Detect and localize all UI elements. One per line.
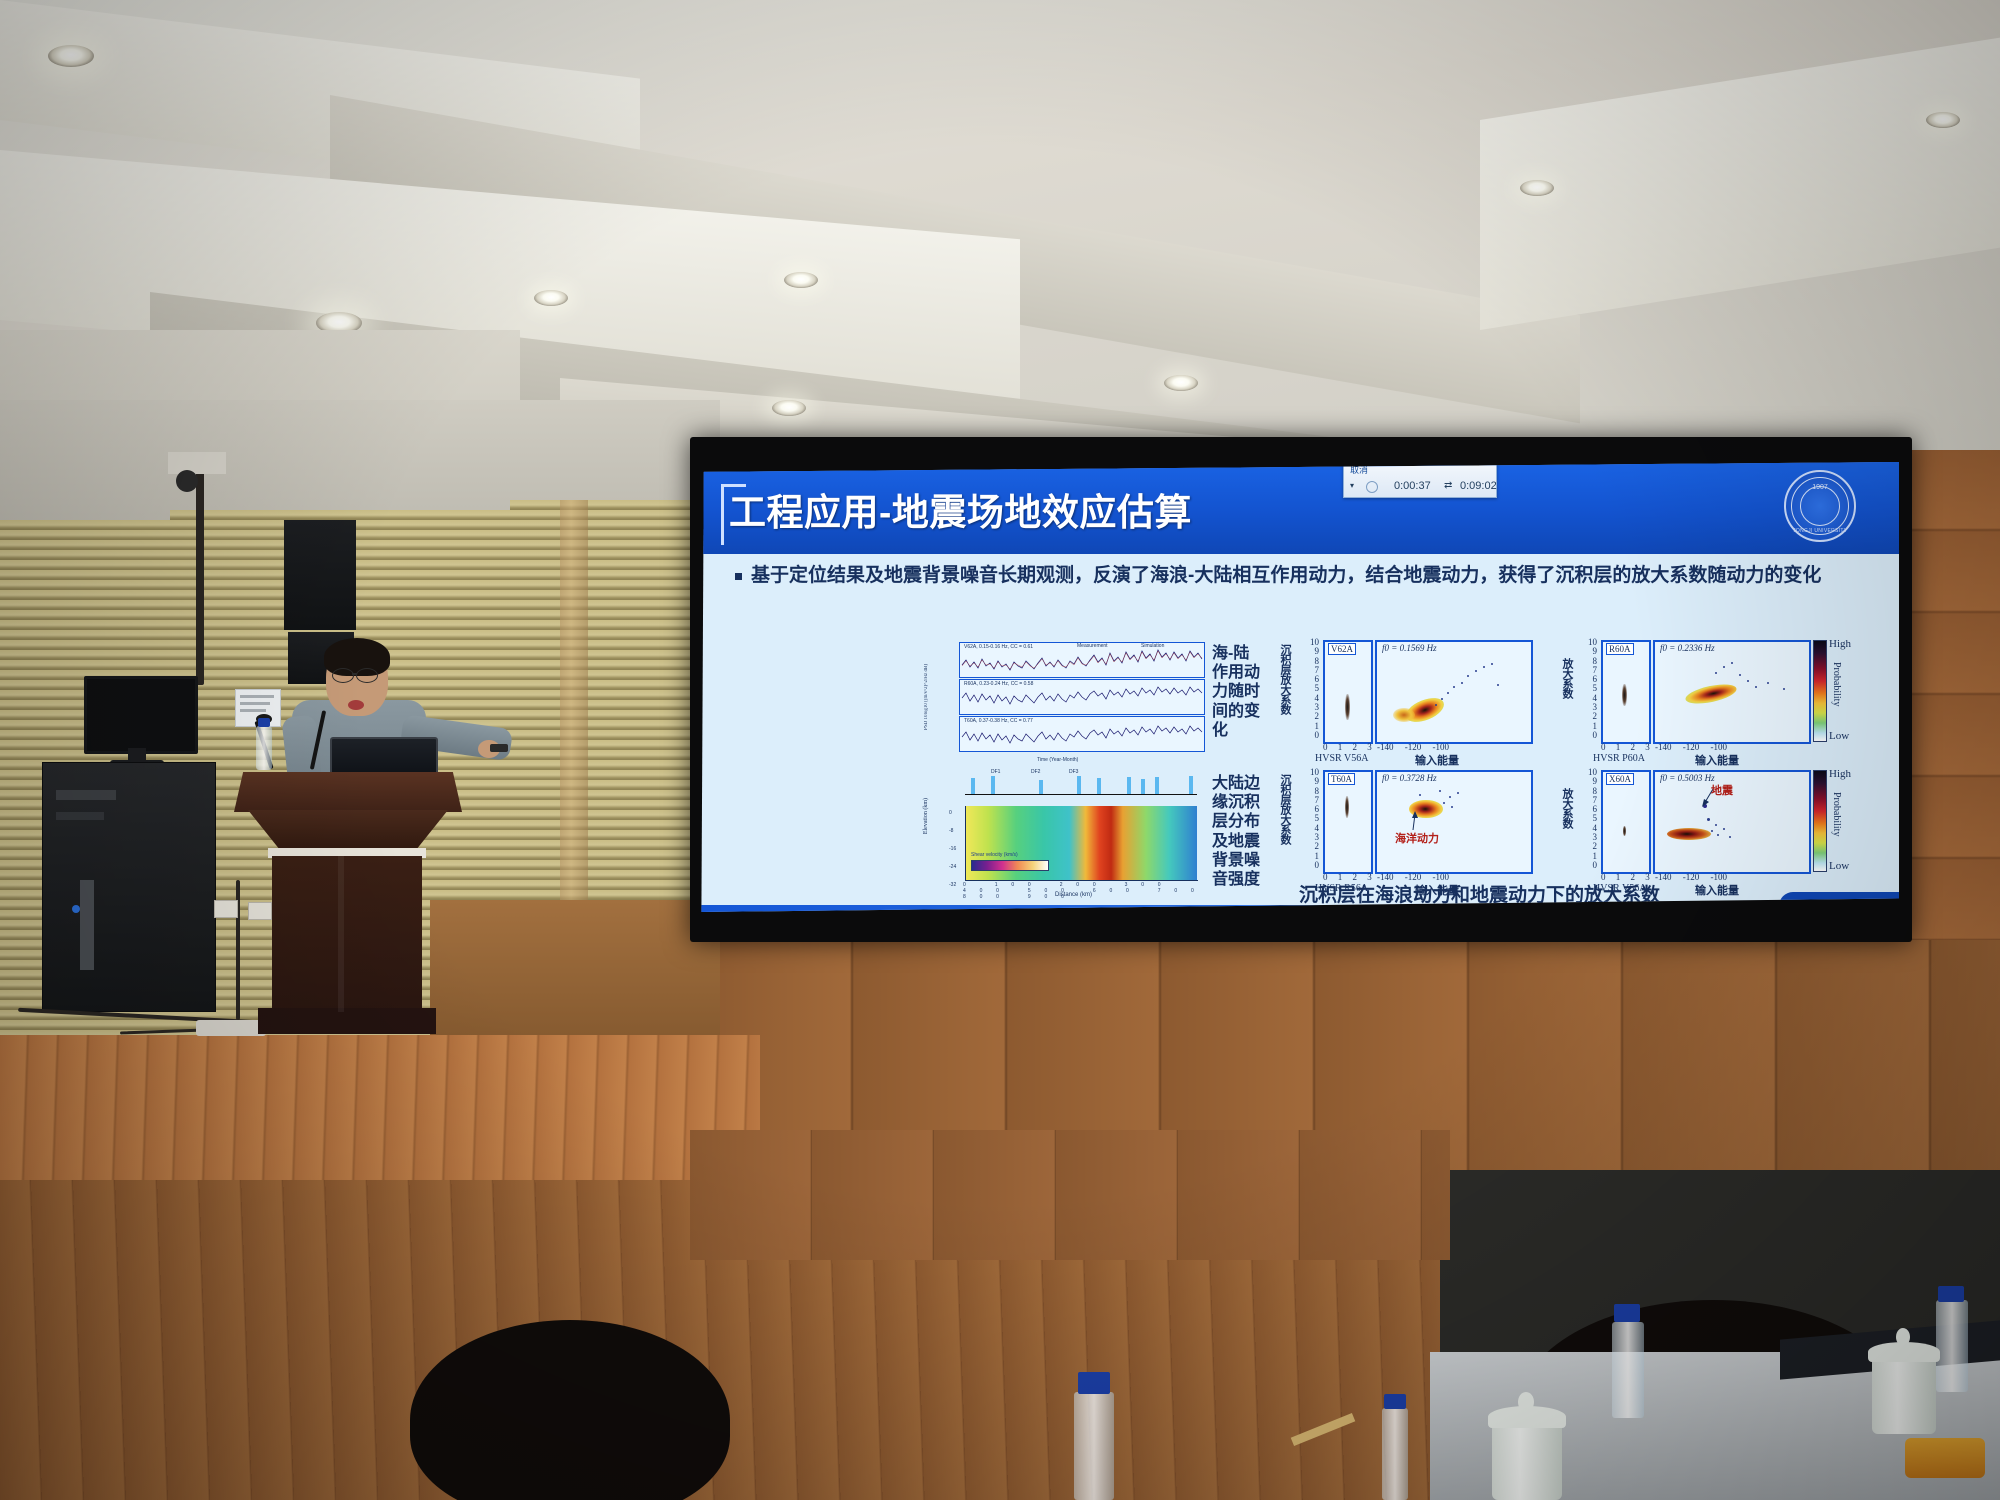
scatter-point <box>1711 830 1713 832</box>
R60A-colorbar-label: Probability <box>1831 662 1842 706</box>
section-xticks: 0 100 200 300 400 500 600 700 800 900 <box>963 882 1209 900</box>
tea-cup-knob <box>1896 1328 1910 1346</box>
chevron-down-icon[interactable]: ▾ <box>1350 481 1358 489</box>
X60A-colorbar <box>1813 770 1827 872</box>
X60A-f0-label: f0 = 0.5003 Hz <box>1660 773 1715 783</box>
V62A-station-tag: V62A <box>1328 643 1356 655</box>
wall-speaker <box>284 520 356 630</box>
scatter-point <box>1475 670 1477 672</box>
notice-line <box>240 702 270 705</box>
slide-title: 工程应用-地震场地效应估算 <box>729 482 1192 536</box>
chart-velocity-cross-section: Elevation (km) DF1 DF2 DF3 Shear velocit… <box>927 768 1209 900</box>
water-bottle-foreground-4 <box>1382 1408 1408 1500</box>
T60A-annotation-arrow-icon <box>1401 810 1425 832</box>
notice-line <box>240 709 266 712</box>
scatter-point <box>1435 704 1437 706</box>
ceiling-light-6 <box>1164 375 1198 391</box>
water-bottle-foreground-1 <box>1074 1392 1114 1500</box>
psd-subpanel-3: T60A, 0.37-0.38 Hz, CC = 0.77 <box>959 716 1205 752</box>
wall-socket <box>214 900 238 918</box>
X60A-yticks: 109876543210 <box>1583 768 1597 870</box>
lapel-microphone <box>348 700 364 710</box>
rack-handle <box>80 880 94 970</box>
X60A-density-core <box>1667 828 1711 840</box>
ceiling-light-7 <box>1520 180 1554 196</box>
psd-ylabel: PSD 10log10 ((m/s^2)^2/Hz dB) <box>924 664 934 730</box>
play-pause-icon[interactable] <box>1366 481 1378 493</box>
stage-edge-wood <box>690 1130 1450 1260</box>
tea-cup-1 <box>1492 1420 1562 1500</box>
scatter-point <box>1419 794 1421 796</box>
station-marker <box>1189 776 1193 794</box>
scatter-point <box>1707 818 1710 821</box>
T60A-scatter-box: f0 = 0.3728 Hz 海洋动力 <box>1375 770 1533 874</box>
scatter-point <box>1715 672 1717 674</box>
rack-panel-slot <box>56 812 104 820</box>
media-cancel-label[interactable]: 取消 <box>1350 463 1368 476</box>
R60A-colorbar-low: Low <box>1829 730 1849 742</box>
section-ylabel: Elevation (km) <box>923 798 929 834</box>
scatter-point <box>1491 663 1493 665</box>
scatter-point <box>1731 662 1733 664</box>
media-total: 0:09:02 <box>1460 480 1497 492</box>
podium-top-surface <box>234 772 462 812</box>
podium-seam <box>338 856 344 1012</box>
operator-monitor <box>84 676 198 754</box>
loop-icon[interactable]: ⇄ <box>1444 480 1452 491</box>
station-marker <box>1077 776 1081 794</box>
chart-amplification-X60A: 放大系数 109876543210 X60A f0 = 0.5003 Hz <box>1561 768 1861 898</box>
T60A-hvsr-box: T60A <box>1323 770 1373 874</box>
eyeglasses-right-lens <box>356 668 378 683</box>
rack-panel-slot <box>56 790 116 800</box>
water-bottle-foreground-2 <box>1612 1322 1644 1418</box>
T60A-station-tag: T60A <box>1328 773 1355 785</box>
R60A-yticks: 109876543210 <box>1583 638 1597 740</box>
floor-cable-cover <box>196 1020 266 1036</box>
ceiling-conduit <box>196 470 204 685</box>
R60A-hvsr-label: HVSR P60A <box>1593 753 1645 764</box>
ceiling-light-1 <box>48 45 94 67</box>
media-elapsed: 0:00:37 <box>1394 480 1431 492</box>
V62A-hvsr-label: HVSR V56A <box>1315 753 1368 764</box>
psd-legend-measurement: Measurement <box>1077 643 1108 649</box>
scatter-point <box>1783 688 1785 690</box>
X60A-hvsr-density <box>1623 826 1626 836</box>
scatter-point <box>1467 675 1469 677</box>
scatter-point <box>1441 698 1443 700</box>
logo-ring-inner <box>1800 486 1840 526</box>
X60A-scatter-box: f0 = 0.5003 Hz 地震 <box>1653 770 1811 874</box>
ceiling-light-4 <box>784 272 818 288</box>
tea-cup-knob <box>1518 1392 1534 1412</box>
bottle-cap <box>1078 1372 1110 1394</box>
slide-bottom-band <box>699 905 1899 912</box>
X60A-colorbar-label: Probability <box>1831 792 1842 836</box>
bottle-cap <box>258 718 270 727</box>
scatter-point <box>1451 806 1453 808</box>
psd-subpanel-2: R60A, 0.23-0.24 Hz, CC = 0.58 <box>959 679 1205 715</box>
psd-xlabel: Time (Year-Month) <box>1037 757 1078 763</box>
bottle-cap <box>1614 1304 1640 1322</box>
station-marker <box>1155 777 1159 794</box>
scatter-point <box>1747 680 1749 682</box>
eyeglasses-left-lens <box>332 668 354 683</box>
R60A-f0-label: f0 = 0.2336 Hz <box>1660 643 1715 653</box>
chart-psd-timeseries: PSD 10log10 ((m/s^2)^2/Hz dB) V62A, 0.15… <box>927 640 1207 762</box>
R60A-scatter-box: f0 = 0.2336 Hz <box>1653 640 1811 744</box>
scatter-point <box>1483 666 1485 668</box>
scatter-point <box>1453 686 1455 688</box>
slide-bottom-accent <box>1779 892 1899 912</box>
logo-name-en: TONGJI UNIVERSITY <box>1786 528 1854 534</box>
V62A-yticks: 109876543210 <box>1305 638 1319 740</box>
scatter-point <box>1739 674 1741 676</box>
laser-pointer[interactable] <box>490 744 508 752</box>
V62A-hvsr-density <box>1345 694 1350 720</box>
ceiling-light-5 <box>772 400 806 416</box>
snack-item <box>1905 1438 1985 1478</box>
R60A-hvsr-xticks: 0 1 2 3 <box>1601 742 1654 752</box>
scatter-point <box>1767 682 1769 684</box>
scatter-point <box>1723 666 1725 668</box>
slide-bullet-text: 基于定位结果及地震背景噪音长期观测，反演了海浪-大陆相互作用动力，结合地震动力，… <box>751 562 1846 591</box>
X60A-ylabel: 放大系数 <box>1559 788 1575 850</box>
psd-legend-simulation: Simulation <box>1141 643 1164 649</box>
scatter-point <box>1443 802 1445 804</box>
station-marker <box>1097 778 1101 794</box>
V62A-hvsr-xticks: 0 1 2 3 <box>1323 742 1376 752</box>
scatter-point <box>1755 686 1757 688</box>
station-marker <box>991 776 995 794</box>
annotation-left-top: 海-陆作用动力随时间的变化 <box>1212 644 1264 740</box>
section-profile-label-2: DF2 <box>1031 769 1040 775</box>
camera-mount <box>168 452 226 474</box>
R60A-hvsr-density <box>1622 684 1627 706</box>
media-playback-overlay[interactable]: 取消 ▾ 0:00:37 ⇄ 0:09:02 <box>1343 462 1497 498</box>
chart-amplification-T60A: 沉积层放大系数 109876543210 T60A f0 = 0.3728 Hz <box>1279 768 1579 898</box>
podium-mid <box>248 810 448 850</box>
R60A-colorbar <box>1813 640 1827 742</box>
V62A-hvsr-box: V62A <box>1323 640 1373 744</box>
scatter-point <box>1439 790 1441 792</box>
wall-socket <box>248 902 272 920</box>
presentation-screen-frame: 工程应用-地震场地效应估算 1907 TONGJI UNIVERSITY 取消 … <box>690 437 1912 942</box>
water-bottle-podium <box>256 726 272 770</box>
bullet-marker-icon <box>735 573 742 580</box>
tongji-university-logo: 1907 TONGJI UNIVERSITY <box>1784 470 1856 542</box>
R60A-ylabel: 放大系数 <box>1559 658 1575 720</box>
notice-line <box>240 695 274 698</box>
presentation-slide: 工程应用-地震场地效应估算 1907 TONGJI UNIVERSITY 取消 … <box>699 462 1899 912</box>
tea-cup-2 <box>1872 1356 1936 1434</box>
V62A-xlabel: 输入能量 <box>1415 752 1459 768</box>
ceiling-light-8 <box>1926 112 1960 128</box>
scatter-point <box>1457 792 1459 794</box>
scatter-point <box>1497 684 1499 686</box>
T60A-ylabel: 沉积层放大系数 <box>1277 774 1293 860</box>
V62A-scatter-box: f0 = 0.1569 Hz <box>1375 640 1533 744</box>
V62A-f0-label: f0 = 0.1569 Hz <box>1382 643 1437 653</box>
R60A-xticks: -140 -120 -100 <box>1655 742 1727 752</box>
scatter-point <box>1715 824 1717 826</box>
scatter-point <box>1723 828 1725 830</box>
section-yticks: 0-8-16-24-32 <box>949 804 956 894</box>
podium-base <box>258 1008 436 1034</box>
T60A-yticks: 109876543210 <box>1305 768 1319 870</box>
podium-body <box>272 856 422 1012</box>
chart-amplification-V62A: 沉积层放大系数 109876543210 V62A f0 = 0.1569 Hz <box>1279 638 1579 768</box>
psd-panel1-label: V62A, 0.15-0.16 Hz, CC = 0.61 <box>964 644 1033 650</box>
scatter-point <box>1461 682 1463 684</box>
T60A-hvsr-density <box>1345 796 1349 818</box>
psd-panel2-label: R60A, 0.23-0.24 Hz, CC = 0.58 <box>964 681 1033 687</box>
T60A-f0-label: f0 = 0.3728 Hz <box>1382 773 1437 783</box>
screenshot-root: 工程应用-地震场地效应估算 1907 TONGJI UNIVERSITY 取消 … <box>0 0 2000 1500</box>
X60A-xticks: -140 -120 -100 <box>1655 872 1727 882</box>
scatter-point <box>1717 834 1719 836</box>
V62A-density-tail <box>1393 708 1415 722</box>
rack-power-led <box>72 905 80 913</box>
eyeglasses-bridge <box>352 673 357 675</box>
X60A-hvsr-box: X60A <box>1601 770 1651 874</box>
bottle-cap <box>1938 1286 1964 1302</box>
X60A-station-tag: X60A <box>1606 773 1634 785</box>
station-marker <box>1039 780 1043 794</box>
X60A-colorbar-high: High <box>1829 768 1851 780</box>
V62A-ylabel: 沉积层放大系数 <box>1277 644 1293 730</box>
station-marker <box>971 778 975 794</box>
logo-year: 1907 <box>1786 484 1854 491</box>
psd-panel3-label: T60A, 0.37-0.38 Hz, CC = 0.77 <box>964 718 1033 724</box>
section-surface-line <box>965 794 1197 795</box>
section-axes <box>965 806 1198 881</box>
X60A-colorbar-low: Low <box>1829 860 1849 872</box>
ceiling-light-3 <box>534 290 568 306</box>
V62A-xticks: -140 -120 -100 <box>1377 742 1449 752</box>
R60A-xlabel: 输入能量 <box>1695 752 1739 768</box>
T60A-annotation: 海洋动力 <box>1395 830 1439 846</box>
X60A-xlabel: 输入能量 <box>1695 882 1739 898</box>
slide-caption: 沉积层在海浪动力和地震动力下的放大系数 <box>1299 880 1660 907</box>
R60A-hvsr-box: R60A <box>1601 640 1651 744</box>
scatter-point <box>1449 796 1451 798</box>
scatter-point <box>1447 692 1449 694</box>
bottle-cap <box>1384 1394 1406 1409</box>
water-bottle-foreground-3 <box>1936 1300 1968 1392</box>
station-marker <box>1141 779 1145 794</box>
R60A-station-tag: R60A <box>1606 643 1634 655</box>
section-profile-label-3: DF3 <box>1069 769 1078 775</box>
station-marker <box>1127 777 1131 794</box>
R60A-colorbar-high: High <box>1829 638 1851 650</box>
X60A-annotation: 地震 <box>1711 782 1733 798</box>
section-profile-label-1: DF1 <box>991 769 1000 775</box>
R60A-density-core <box>1684 681 1738 707</box>
security-camera <box>176 470 198 492</box>
annotation-left-bottom: 大陆边缘沉积层分布及地震背景噪音强度 <box>1212 774 1264 889</box>
chart-amplification-R60A: 放大系数 109876543210 R60A f0 = 0.2336 Hz <box>1561 638 1861 768</box>
scatter-point <box>1729 836 1731 838</box>
